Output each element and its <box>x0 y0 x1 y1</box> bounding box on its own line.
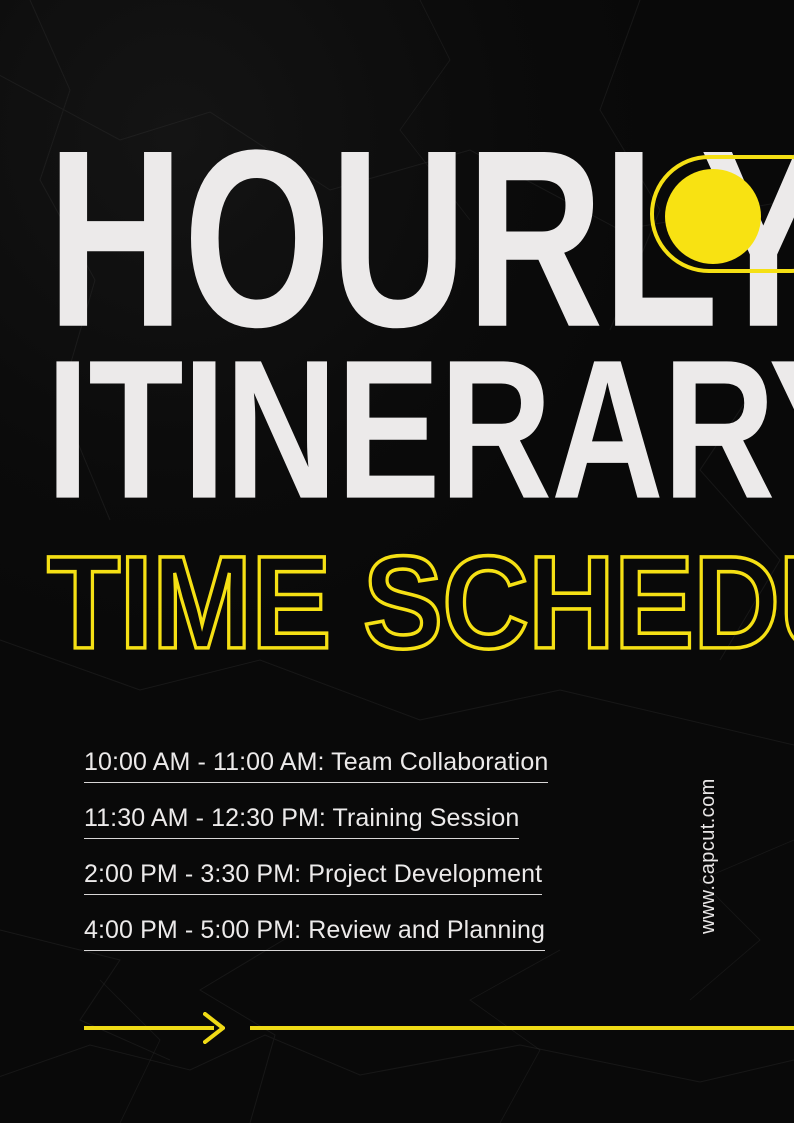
arrow-right-icon <box>203 1012 225 1044</box>
watermark-url: www.capcut.com <box>697 778 720 934</box>
list-item: 2:00 PM - 3:30 PM: Project Development <box>84 862 542 895</box>
schedule-list: 10:00 AM - 11:00 AM: Team Collaboration … <box>84 750 644 974</box>
list-item: 10:00 AM - 11:00 AM: Team Collaboration <box>84 750 548 783</box>
list-item: 4:00 PM - 5:00 PM: Review and Planning <box>84 918 545 951</box>
yellow-circle-shape <box>665 169 761 264</box>
footer-rule <box>250 1026 794 1030</box>
list-item: 11:30 AM - 12:30 PM: Training Session <box>84 806 519 839</box>
title-line-2: ITINERARY <box>46 330 794 528</box>
poster-canvas: HOURLY ITINERARY TIME SCHEDULE 10:00 AM … <box>0 0 794 1123</box>
arrow-shaft <box>84 1026 214 1030</box>
subtitle-time-schedule: TIME SCHEDULE <box>47 537 794 669</box>
